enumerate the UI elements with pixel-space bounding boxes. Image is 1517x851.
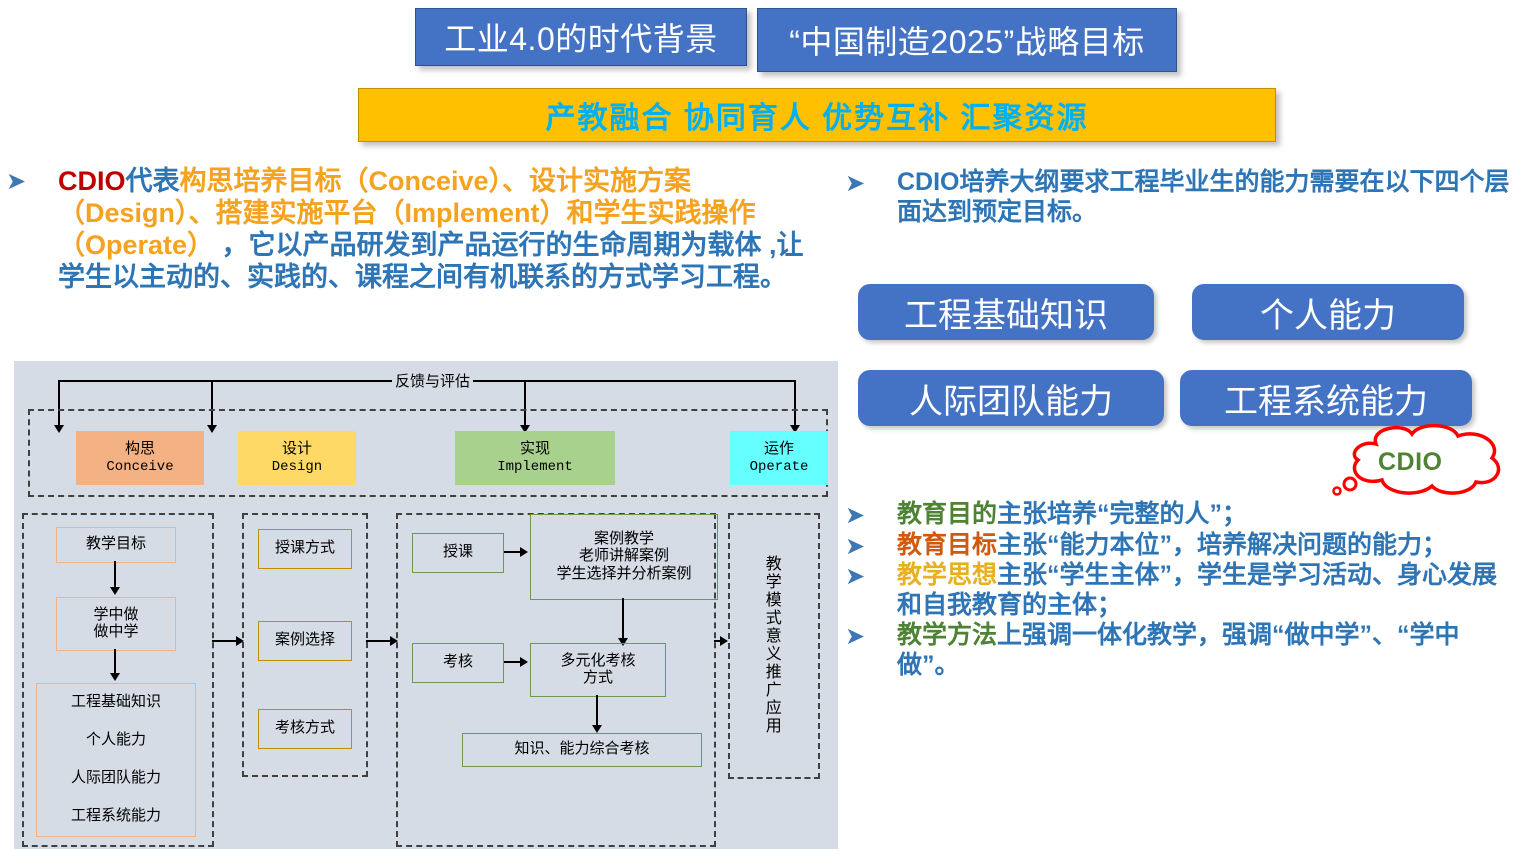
right-paragraph-text: CDIO培养大纲要求工程毕业生的能力需要在以下四个层面达到预定目标。 — [897, 168, 1510, 227]
right-bullet-list: ➤ 教育目的主张培养“完整的人”； ➤ 教育目标主张“能力本位”，培养解决问题的… — [845, 500, 1513, 681]
arrow-right-icon — [720, 636, 728, 646]
segment-keyword: 教育目标 — [897, 531, 997, 559]
header-pill-label: 工业4.0的时代背景 — [444, 14, 718, 60]
stage-en-label: Conceive — [106, 459, 173, 475]
g1-box-teaching-goal[interactable]: 教学目标 — [56, 527, 176, 563]
stage-en-label: Implement — [497, 459, 573, 475]
capability-pill-interpersonal-teamwork[interactable]: 人际团队能力 — [858, 370, 1164, 426]
stage-box-operate[interactable]: 运作 Operate — [730, 431, 828, 485]
connector — [114, 649, 116, 675]
right-paragraph: ➤ CDIO培养大纲要求工程毕业生的能力需要在以下四个层面达到预定目标。 — [845, 168, 1510, 227]
capability-label: 个人能力 — [1260, 288, 1396, 337]
list-item: ➤ 教学方法上强调一体化教学，强调“做中学”、“学中做”。 — [845, 621, 1513, 680]
box-label: 授课方式 — [275, 540, 335, 557]
connector — [596, 695, 598, 727]
list-item: ➤ 教育目标主张“能力本位”，培养解决问题的能力； — [845, 531, 1513, 561]
bullet-row: ➤ CDIO代表构思培养目标（Conceive）、设计实施方案（Design）、… — [6, 166, 816, 293]
capability-label: 人际团队能力 — [909, 374, 1113, 423]
g1-box-learn-by-doing[interactable]: 学中做 做中学 — [56, 597, 176, 651]
stage-box-conceive[interactable]: 构思 Conceive — [76, 431, 204, 485]
segment-daibiao: 代表 — [126, 166, 180, 196]
left-paragraph-text: CDIO代表构思培养目标（Conceive）、设计实施方案（Design）、搭建… — [58, 166, 816, 293]
g3-box-case-teaching[interactable]: 案例教学 老师讲解案例 学生选择并分析案例 — [530, 514, 718, 600]
arrow-down-icon — [110, 587, 120, 595]
arrow-bullet-icon: ➤ — [845, 502, 897, 530]
arrow-right-icon — [390, 636, 398, 646]
stage-cn-label: 设计 — [282, 441, 312, 458]
segment-cdio: CDIO — [58, 166, 126, 196]
header-pill-industry40[interactable]: 工业4.0的时代背景 — [415, 8, 747, 66]
capability-pill-engineering-systems[interactable]: 工程系统能力 — [1180, 370, 1472, 426]
box-label: 案例教学 — [594, 531, 654, 548]
box-label: 个人能力 — [86, 732, 146, 749]
connector — [366, 640, 392, 642]
capability-pill-engineering-fundamentals[interactable]: 工程基础知识 — [858, 284, 1154, 340]
arrow-right-icon — [236, 636, 244, 646]
g3-box-lecture[interactable]: 授课 — [412, 533, 504, 573]
g1-box-capabilities[interactable]: 工程基础知识 个人能力 人际团队能力 工程系统能力 — [36, 683, 196, 837]
list-item-text: 教学方法上强调一体化教学，强调“做中学”、“学中做”。 — [897, 621, 1513, 680]
box-label: 工程系统能力 — [71, 808, 161, 825]
box-label: 老师讲解案例 — [579, 548, 669, 565]
connector — [212, 640, 238, 642]
g3-box-multi-assessment[interactable]: 多元化考核 方式 — [530, 643, 666, 697]
box-label: 考核 — [443, 654, 473, 671]
left-paragraph: ➤ CDIO代表构思培养目标（Conceive）、设计实施方案（Design）、… — [6, 166, 816, 293]
stage-cn-label: 实现 — [520, 441, 550, 458]
arrow-right-icon — [520, 657, 528, 667]
segment-body: 主张“能力本位”，培养解决问题的能力； — [997, 531, 1447, 559]
list-item: ➤ 教育目的主张培养“完整的人”； — [845, 500, 1513, 530]
box-label: 多元化考核 — [560, 653, 635, 670]
capability-pill-personal-skills[interactable]: 个人能力 — [1192, 284, 1464, 340]
g2-box-case-selection[interactable]: 案例选择 — [258, 621, 352, 661]
stage-box-implement[interactable]: 实现 Implement — [455, 431, 615, 485]
arrow-bullet-icon: ➤ — [845, 623, 897, 651]
box-label: 做中学 — [93, 624, 138, 641]
header-pill-made-in-china-2025[interactable]: “中国制造2025”战略目标 — [757, 8, 1177, 72]
stage-box-design[interactable]: 设计 Design — [238, 431, 356, 485]
box-label: 学生选择并分析案例 — [556, 566, 691, 583]
segment-keyword: 教育目的 — [897, 500, 997, 528]
box-label: 知识、能力综合考核 — [514, 741, 649, 758]
segment-body: 主张培养“完整的人”； — [997, 500, 1247, 528]
g2-box-teaching-method[interactable]: 授课方式 — [258, 529, 352, 569]
stage-en-label: Design — [272, 459, 322, 475]
bullet-row: ➤ CDIO培养大纲要求工程毕业生的能力需要在以下四个层面达到预定目标。 — [845, 168, 1510, 227]
box-label: 学中做 — [93, 607, 138, 624]
list-item-text: 教育目的主张培养“完整的人”； — [897, 500, 1513, 530]
arrow-bullet-icon: ➤ — [6, 168, 58, 196]
stage-en-label: Operate — [750, 459, 809, 475]
cdio-process-diagram: 反馈与评估 构思 Conceive 设计 Design 实现 Implement… — [14, 361, 838, 849]
list-item-text: 教学思想主张“学生主体”，学生是学习活动、身心发展和自我教育的主体； — [897, 561, 1513, 620]
g4-label: 教学模式意义推广应用 — [762, 555, 780, 735]
list-item-text: 教育目标主张“能力本位”，培养解决问题的能力； — [897, 531, 1513, 561]
stage-cn-label: 运作 — [764, 441, 794, 458]
list-item: ➤ 教学思想主张“学生主体”，学生是学习活动、身心发展和自我教育的主体； — [845, 561, 1513, 620]
header-band-label: 产教融合 协同育人 优势互补 汇聚资源 — [545, 93, 1088, 137]
capability-label: 工程系统能力 — [1224, 374, 1428, 423]
capability-label: 工程基础知识 — [904, 288, 1108, 337]
cdio-thought-cloud: CDIO — [1330, 424, 1516, 502]
arrow-bullet-icon: ➤ — [845, 563, 897, 591]
header-pill-label: “中国制造2025”战略目标 — [789, 17, 1145, 63]
connector — [114, 561, 116, 589]
header-band: 产教融合 协同育人 优势互补 汇聚资源 — [358, 88, 1276, 142]
arrow-bullet-icon: ➤ — [845, 170, 897, 198]
box-label: 工程基础知识 — [71, 694, 161, 711]
segment-keyword: 教学方法 — [897, 621, 997, 649]
box-label: 授课 — [443, 544, 473, 561]
g3-box-comprehensive-assessment[interactable]: 知识、能力综合考核 — [462, 733, 702, 767]
connector — [622, 598, 624, 640]
stage-cn-label: 构思 — [125, 441, 155, 458]
feedback-label: 反馈与评估 — [392, 370, 473, 391]
box-label: 案例选择 — [275, 632, 335, 649]
box-label: 考核方式 — [275, 720, 335, 737]
box-label: 人际团队能力 — [71, 770, 161, 787]
box-label: 教学目标 — [86, 536, 146, 553]
arrow-down-icon — [592, 725, 602, 733]
g3-box-assessment[interactable]: 考核 — [412, 643, 504, 683]
cloud-label: CDIO — [1378, 448, 1443, 477]
arrow-bullet-icon: ➤ — [845, 533, 897, 561]
g2-box-assessment-method[interactable]: 考核方式 — [258, 709, 352, 749]
box-label: 方式 — [583, 670, 613, 687]
segment-keyword: 教学思想 — [897, 561, 997, 589]
arrow-down-icon — [110, 673, 120, 681]
arrow-right-icon — [520, 547, 528, 557]
g4-box-significance[interactable]: 教学模式意义推广应用 — [740, 523, 802, 767]
